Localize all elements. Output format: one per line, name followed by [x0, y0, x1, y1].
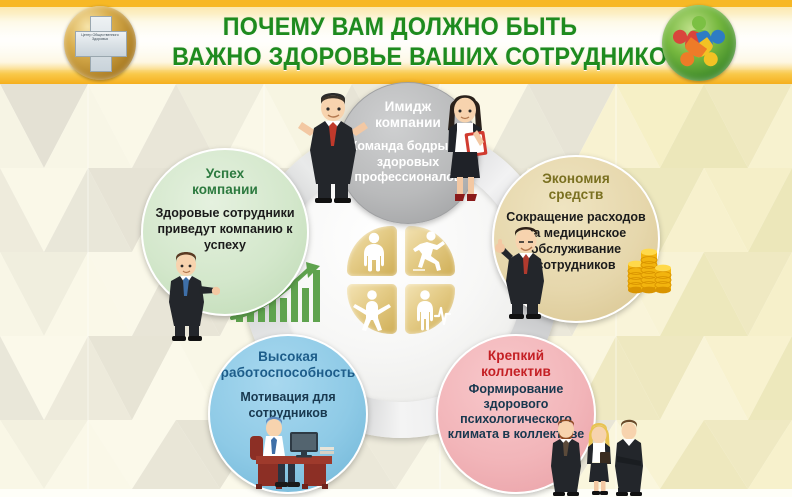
infographic-poster: Имидж компании Команда бодрых и здоровых…: [0, 0, 792, 497]
page-title: ПОЧЕМУ ВАМ ДОЛЖНО БЫТЬ ВАЖНО ЗДОРОВЬЕ ВА…: [155, 12, 645, 72]
pulse-figure-icon: [405, 284, 455, 334]
businessman-presenting-figure: [296, 88, 370, 209]
logo-caption: Центр Общественного Здоровья: [77, 33, 123, 54]
bubble-title-line-1: Высокая: [258, 349, 318, 364]
body-figure-icon: [347, 226, 397, 276]
arms-raised-figure-icon: [347, 284, 397, 334]
poster-header: Центр Общественного Здоровья ПОЧЕМУ ВАМ …: [0, 0, 792, 84]
bubble-title-line-1: Крепкий: [488, 348, 544, 363]
title-line-1: ПОЧЕМУ ВАМ ДОЛЖНО БЫТЬ: [172, 12, 628, 42]
central-health-emblem: [347, 226, 455, 334]
businessman-pointing-figure: [162, 248, 220, 347]
bottom-edge-strip: [0, 489, 792, 497]
title-line-2: ВАЖНО ЗДОРОВЬЕ ВАШИХ СОТРУДНИКОВ: [172, 42, 628, 72]
bubble-title-line-1: Успех: [206, 166, 245, 181]
bubble-title-line-2: компании: [192, 182, 258, 197]
employee-at-desk-figure: [238, 414, 338, 497]
bubble-title-line-2: средств: [549, 187, 604, 202]
bubble-title-line-2: работоспособность: [221, 365, 356, 380]
running-figure-icon: [405, 226, 455, 276]
bubble-title-line-1: Имидж: [385, 99, 432, 114]
bubble-title: Успех компании: [143, 166, 307, 198]
bubble-title-line-1: Экономия: [542, 171, 610, 186]
people-circle-emblem-logo[interactable]: [662, 5, 736, 81]
bubble-body: Здоровые сотрудники приведут компанию к …: [143, 205, 307, 253]
businessman-thumbs-up-figure: [492, 224, 556, 325]
team-of-three-figure: [548, 418, 646, 497]
medical-cross-emblem-logo[interactable]: Центр Общественного Здоровья: [64, 6, 136, 80]
bubble-title-line-2: коллектив: [481, 364, 551, 379]
gold-coin-stacks-graphic: [626, 238, 674, 299]
bubble-title-line-2: компании: [375, 115, 441, 130]
businesswoman-with-folder-figure: [436, 90, 496, 207]
